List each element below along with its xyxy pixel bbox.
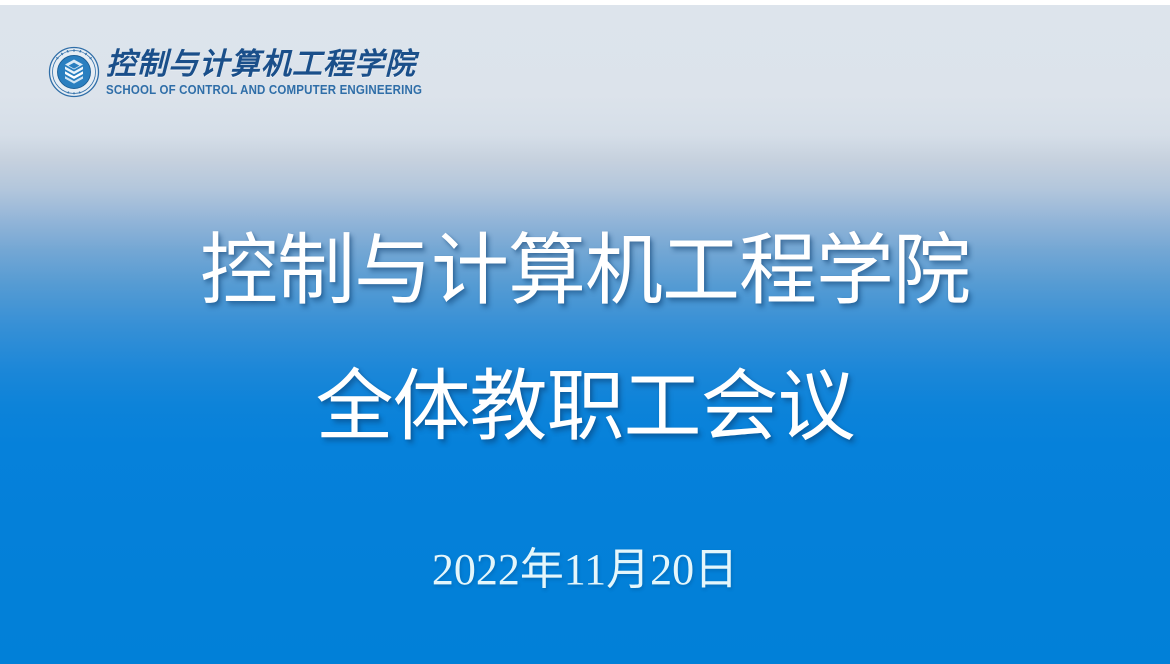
date-text: 2022年11月20日 xyxy=(0,544,1170,596)
title-line-2: 全体教职工会议 xyxy=(0,358,1170,456)
presentation-slide: 控制与计算机工程学院 SCHOOL OF CONTROL AND COMPUTE… xyxy=(0,0,1170,664)
slide-top-edge-strip xyxy=(0,0,1170,5)
title-line-1: 控制与计算机工程学院 xyxy=(0,222,1170,320)
school-logo-text: 控制与计算机工程学院 SCHOOL OF CONTROL AND COMPUTE… xyxy=(106,47,450,97)
school-name-english: SCHOOL OF CONTROL AND COMPUTER ENGINEERI… xyxy=(106,83,422,97)
slide-title: 控制与计算机工程学院 全体教职工会议 xyxy=(0,222,1170,456)
school-name-chinese: 控制与计算机工程学院 xyxy=(106,49,450,81)
school-logo: 控制与计算机工程学院 SCHOOL OF CONTROL AND COMPUTE… xyxy=(48,38,450,106)
school-seal-icon xyxy=(48,46,100,98)
slide-date: 2022年11月20日 xyxy=(0,544,1170,596)
